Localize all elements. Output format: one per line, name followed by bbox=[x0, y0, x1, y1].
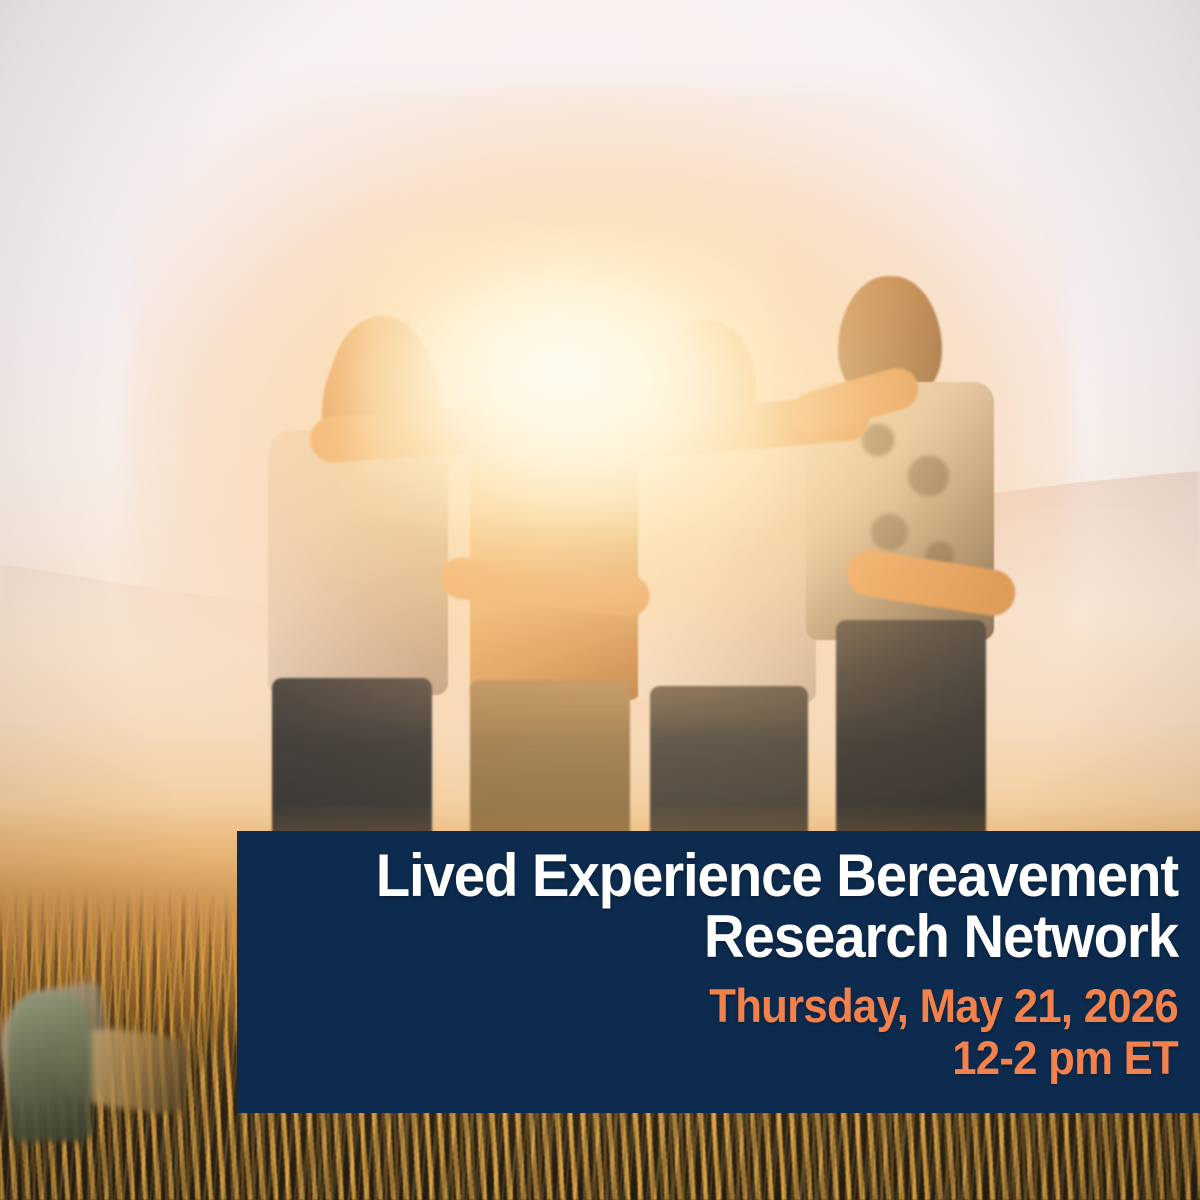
event-title-line-2: Research Network bbox=[329, 906, 1178, 967]
event-time: 12-2 pm ET bbox=[338, 1033, 1178, 1083]
foreground-blur-object-dark bbox=[8, 992, 92, 1142]
event-date: Thursday, May 21, 2026 bbox=[338, 981, 1178, 1031]
sun-core bbox=[354, 222, 774, 522]
poster-canvas: Lived Experience Bereavement Research Ne… bbox=[0, 0, 1200, 1200]
event-title-line-1: Lived Experience Bereavement bbox=[329, 845, 1178, 906]
event-banner: Lived Experience Bereavement Research Ne… bbox=[237, 831, 1200, 1113]
